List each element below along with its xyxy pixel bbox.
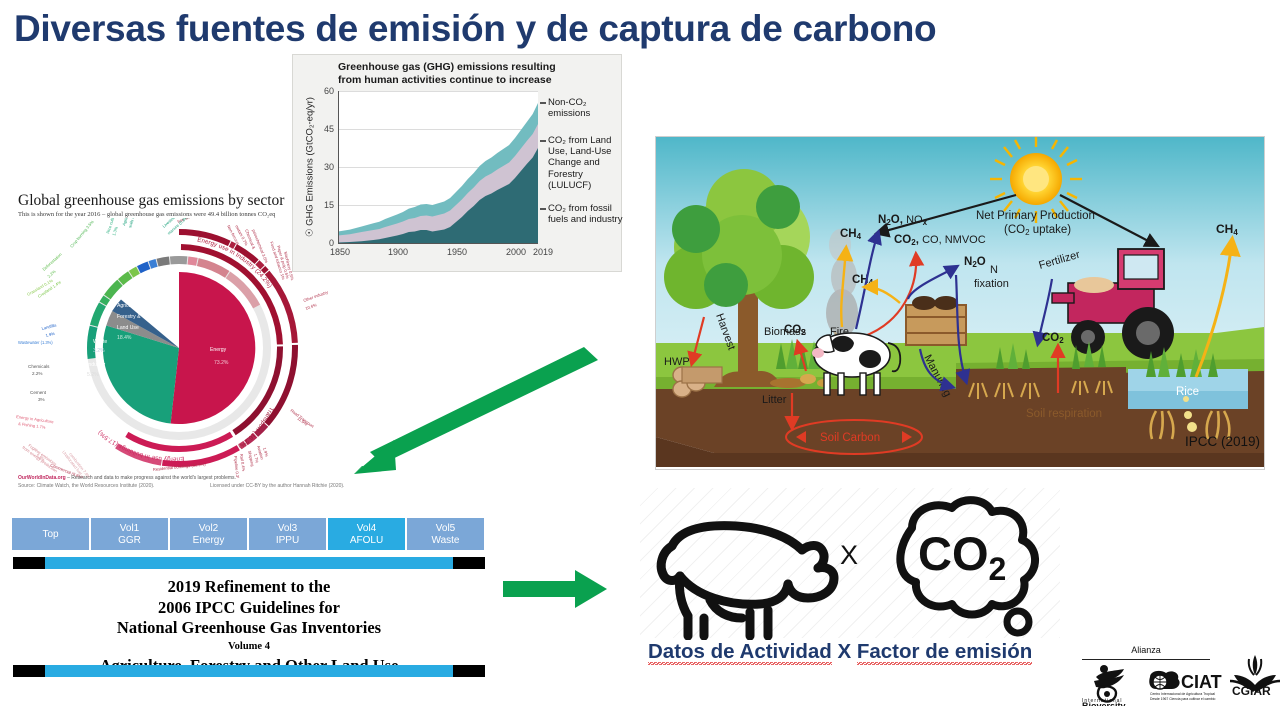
- alianza-divider: [1082, 659, 1210, 660]
- xtick-2019: 2019: [533, 247, 553, 257]
- arrow-diagonal-down-left-icon: [352, 342, 602, 482]
- bubble-1: [1184, 411, 1192, 419]
- legend-fossil: CO₂ from fossil fuels and industry: [548, 203, 626, 225]
- bubble-dot-icon: [1007, 611, 1029, 633]
- owid-credit-line-2: Source: Climate Watch, the World Resourc…: [18, 483, 154, 489]
- formula-caption-x: X: [832, 640, 857, 663]
- legend-dash-icon: [540, 208, 546, 210]
- owid-sector-pie-chart: Global greenhouse gas emissions by secto…: [14, 192, 344, 502]
- legend-dash-icon: [540, 102, 546, 104]
- pie-label-industry: Industry: [87, 362, 106, 368]
- tab-vol3-line1: Vol3: [278, 523, 297, 534]
- tab-vol2-line2: Energy: [193, 535, 225, 546]
- slide-canvas: Diversas fuentes de emisión y de captura…: [0, 0, 1287, 706]
- ghg-chart-title: Greenhouse gas (GHG) emissions resulting…: [338, 61, 578, 87]
- xtick-1950: 1950: [447, 247, 467, 257]
- formula-caption-factor: Factor de emisión: [857, 640, 1032, 665]
- ghg-stacked-area-svg: [338, 91, 538, 243]
- owid-chart-title: Global greenhouse gas emissions by secto…: [18, 192, 284, 210]
- owid-brand: OurWorldInData.org: [18, 475, 66, 481]
- owid-chart-subtitle: This is shown for the year 2016 – global…: [18, 211, 275, 218]
- label-hwp: HWP: [664, 356, 690, 368]
- legend-fossil-label: CO₂ from fossil fuels and industry: [548, 203, 622, 225]
- legend-non-co2: Non-CO₂ emissions: [548, 97, 626, 119]
- tab-vol4-line1: Vol4: [357, 523, 376, 534]
- label-rice: Rice: [1176, 386, 1199, 398]
- ciat-name: CIAT: [1181, 672, 1222, 692]
- ciat-sub2: Desde 1967 Ciencia para cultivar el camb…: [1150, 697, 1222, 701]
- pie-label-energy: Energy: [210, 347, 227, 353]
- activity-data-formula: X CO2 Datos de Actividad X Factor de emi…: [640, 488, 1060, 678]
- formula-caption-activity: Datos de Actividad: [648, 640, 832, 665]
- svg-text:3%: 3%: [38, 397, 45, 402]
- label-soil-respiration: Soil respiration: [1026, 408, 1102, 420]
- cover-bar-top: [13, 557, 485, 569]
- legend-non-co2-label: Non-CO₂ emissions: [548, 97, 590, 119]
- label-soil-carbon: Soil Carbon: [820, 432, 880, 444]
- alianza-label: Alianza: [1076, 645, 1216, 655]
- svg-text:Wastewater (1.3%): Wastewater (1.3%): [18, 340, 53, 345]
- tab-vol5-waste[interactable]: Vol5 Waste: [407, 518, 484, 550]
- tab-vol4-afolu[interactable]: Vol4 AFOLU: [328, 518, 407, 550]
- tab-vol3-line2: IPPU: [276, 535, 299, 546]
- label-npp: Net Primary Production: [976, 210, 1095, 222]
- cover-bar-bottom-inner: [45, 665, 453, 677]
- owid-credit-line-1: OurWorldInData.org – Research and data t…: [18, 475, 236, 481]
- svg-text:10.6%: 10.6%: [305, 302, 318, 311]
- pie-label-agriculture-3: Land Use: [117, 325, 139, 331]
- cgiar-logo: CGIAR: [1228, 653, 1284, 695]
- cover-bar-top-inner: [45, 557, 453, 569]
- pie-label-agriculture-1: Agriculture,: [117, 303, 143, 309]
- svg-text:2.2%: 2.2%: [32, 371, 42, 376]
- xtick-2000: 2000: [506, 247, 526, 257]
- tab-vol2-energy[interactable]: Vol2 Energy: [170, 518, 249, 550]
- tab-vol1-line2: GGR: [118, 535, 141, 546]
- cover-line-4: Volume 4: [13, 639, 485, 655]
- bubble-3: [1183, 396, 1189, 402]
- cover-text-block: 2019 Refinement to the 2006 IPCC Guideli…: [13, 577, 485, 676]
- svg-text:1.9%: 1.9%: [45, 331, 56, 338]
- formula-caption: Datos de Actividad X Factor de emisión: [648, 640, 1032, 664]
- tab-vol1-ggr[interactable]: Vol1 GGR: [91, 518, 170, 550]
- label-n-fixation-2: fixation: [974, 278, 1009, 290]
- tab-vol3-ippu[interactable]: Vol3 IPPU: [249, 518, 328, 550]
- svg-text:1.3%: 1.3%: [111, 226, 119, 237]
- legend-lulucf-label: CO₂ from Land Use, Land-Use Change and F…: [548, 135, 611, 191]
- ghg-plot-area: 60 45 30 15 0 1850 1900 1950 2000 2019 ☉…: [338, 91, 538, 243]
- xtick-1900: 1900: [388, 247, 408, 257]
- book-cover: 2019 Refinement to the 2006 IPCC Guideli…: [12, 556, 484, 676]
- carbon-cycle-svg: HWP Harvest Litter Soil Carbon Bio: [656, 137, 1264, 469]
- pie-label-waste: Waste: [93, 339, 107, 345]
- bubble-2: [1187, 422, 1197, 432]
- multiply-symbol: X: [840, 540, 858, 571]
- page-title: Diversas fuentes de emisión y de captura…: [14, 8, 936, 50]
- ghg-plot-canvas: [338, 91, 538, 243]
- x-axis-line: [338, 243, 538, 244]
- arrow-right-icon: [503, 568, 613, 612]
- legend-lulucf: CO₂ from Land Use, Land-Use Change and F…: [548, 135, 626, 191]
- svg-text:Chemicals: Chemicals: [28, 364, 50, 369]
- ytick-60: 60: [308, 86, 334, 96]
- owid-credit-text: – Research and data to make progress aga…: [66, 475, 236, 481]
- label-litter: Litter: [762, 394, 787, 406]
- tab-top-line1: Top: [42, 529, 58, 540]
- svg-text:Landfills: Landfills: [41, 322, 57, 330]
- tab-top[interactable]: Top: [12, 518, 91, 550]
- pie-value-agriculture: 18.4%: [117, 335, 132, 341]
- pie-value-energy: 73.2%: [214, 360, 229, 366]
- cow-outline-icon: [650, 500, 850, 640]
- label-n2o-nox: N2O, NOx: [878, 214, 928, 227]
- owid-credit-line-3: Licensed under CC-BY by the author Hanna…: [210, 483, 344, 489]
- cover-line-2: 2006 IPCC Guidelines for: [13, 598, 485, 619]
- owid-pie-svg: Energy 73.2% Agriculture, Forestry & Lan…: [14, 218, 344, 478]
- svg-text:Crop burning 3.5%: Crop burning 3.5%: [69, 219, 95, 249]
- cover-bar-bottom: [13, 665, 485, 677]
- ciat-sub1: Centro Internacional de Agricultura Trop…: [1150, 692, 1222, 696]
- cropland-soil: [956, 367, 1126, 403]
- svg-text:soils 4.1%: soils 4.1%: [127, 218, 138, 228]
- pie-main-sectors: [101, 270, 257, 426]
- tab-vol5-line1: Vol5: [436, 523, 455, 534]
- label-co2-uptake: (CO2 uptake): [1004, 224, 1071, 237]
- bioversity-sub: International: [1082, 698, 1123, 704]
- cgiar-name: CGIAR: [1232, 684, 1271, 695]
- volume-tabs: Top Vol1 GGR Vol2 Energy Vol3 IPPU Vol4 …: [12, 518, 484, 550]
- cover-line-1: 2019 Refinement to the: [13, 577, 485, 598]
- legend-dash-icon: [540, 140, 546, 142]
- pie-value-industry: 5.2%: [87, 372, 99, 378]
- svg-text:11.9%: 11.9%: [296, 416, 308, 427]
- svg-text:2.2%: 2.2%: [46, 269, 57, 279]
- cover-line-3: National Greenhouse Gas Inventories: [13, 618, 485, 639]
- svg-text:Other industry: Other industry: [303, 289, 330, 303]
- carbon-cycle-diagram: HWP Harvest Litter Soil Carbon Bio: [655, 136, 1265, 470]
- pie-value-waste: 3.2%: [93, 348, 105, 354]
- tab-vol5-line2: Waste: [432, 535, 460, 546]
- label-n-fixation-1: N: [990, 264, 998, 276]
- partner-logos: Alianza Bioversity International CIAT Ce…: [1076, 645, 1276, 703]
- carbon-cycle-source-caption: IPCC (2019): [1185, 434, 1260, 449]
- tab-vol4-line2: AFOLU: [350, 535, 383, 546]
- svg-text:Cement: Cement: [30, 390, 47, 395]
- co2-thought-bubble-icon: CO2: [868, 494, 1048, 644]
- tab-vol2-line1: Vol2: [199, 523, 218, 534]
- co2-text: CO2: [918, 527, 1006, 587]
- label-co2-co-nmvoc: CO2, CO, NMVOC: [894, 234, 986, 247]
- tab-vol1-line1: Vol1: [120, 523, 139, 534]
- pie-label-agriculture-2: Forestry &: [117, 314, 141, 320]
- ipcc-guidelines-book: Top Vol1 GGR Vol2 Energy Vol3 IPPU Vol4 …: [12, 518, 484, 678]
